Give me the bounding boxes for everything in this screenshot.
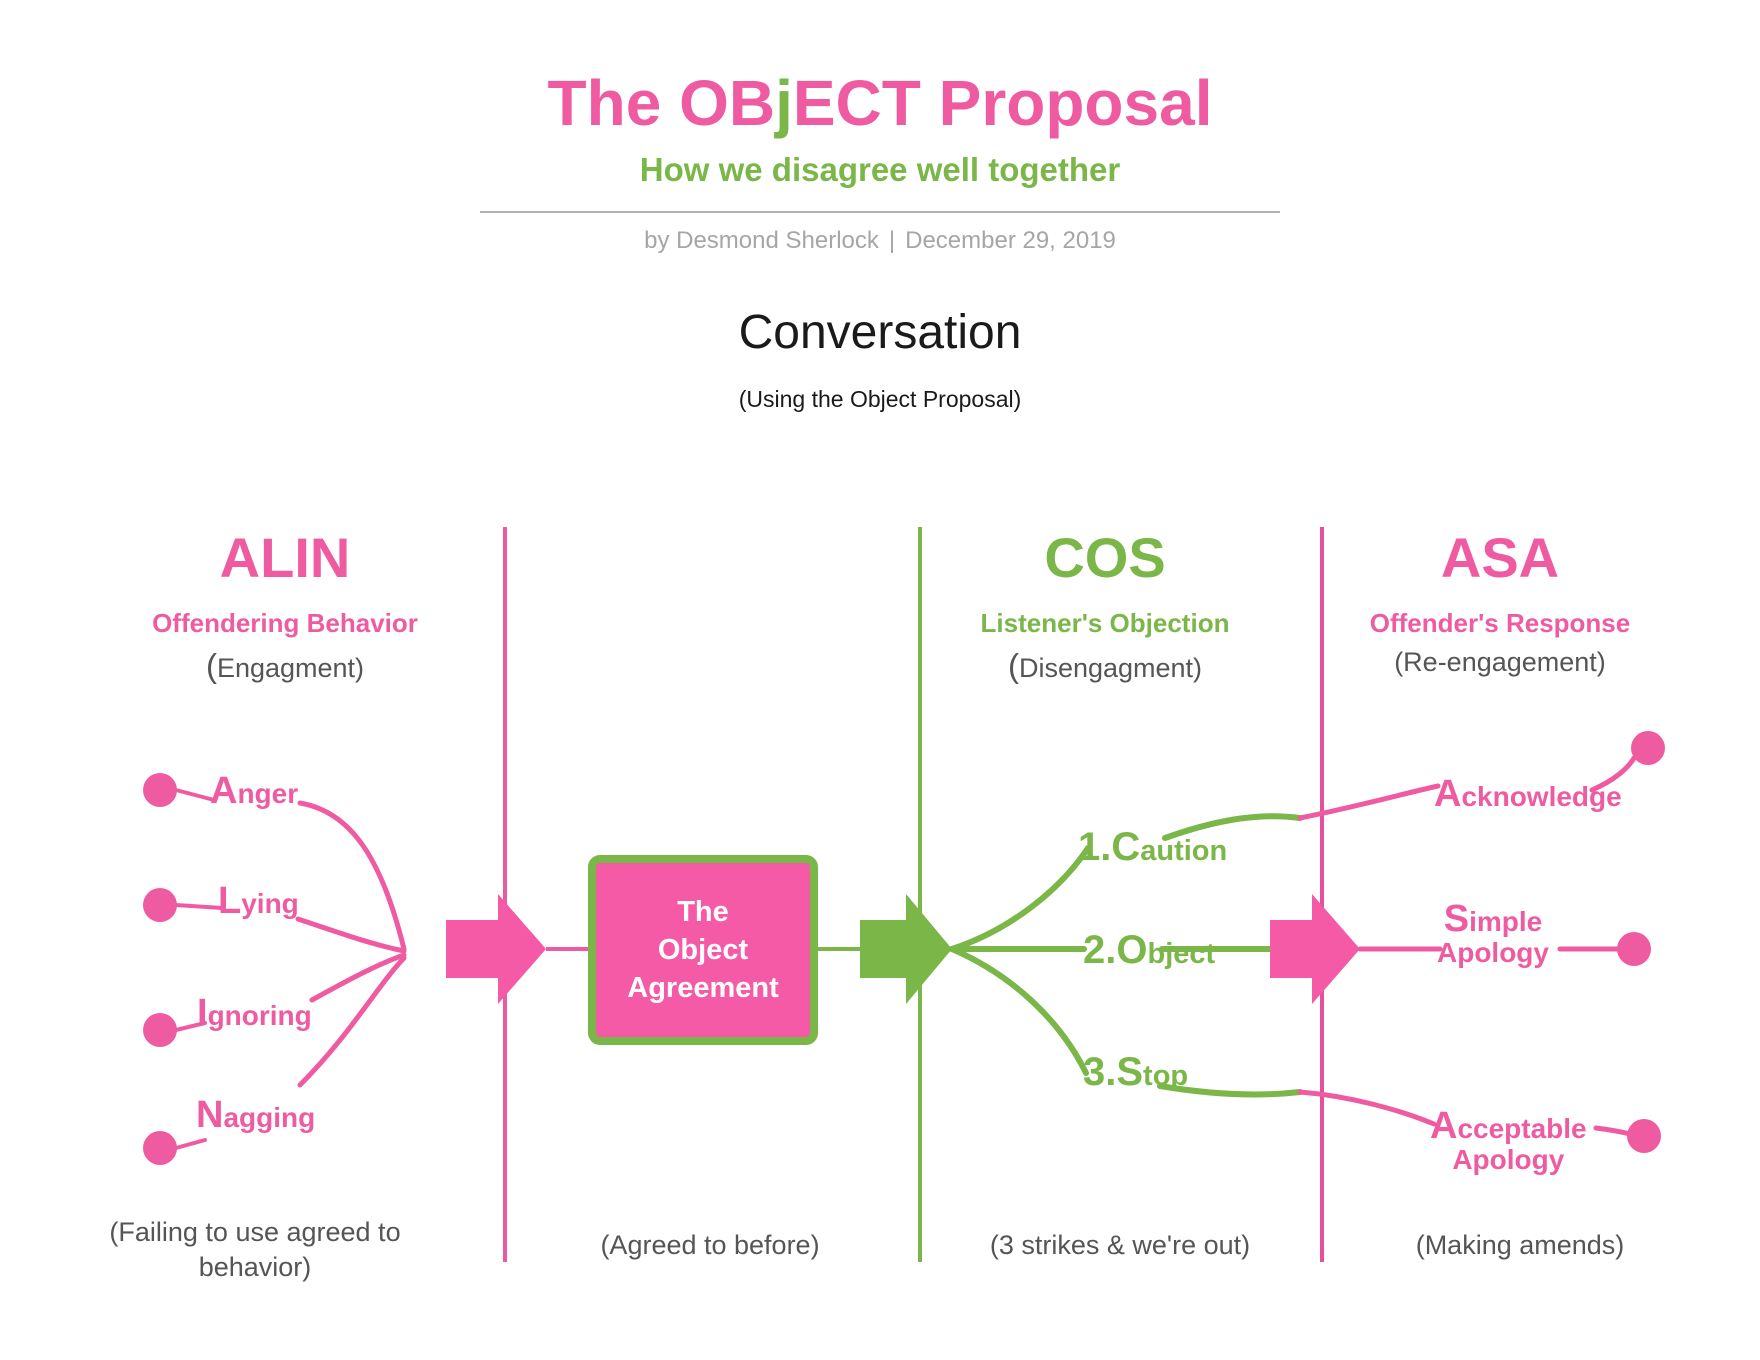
alin-item-lying-rest: ying [241, 888, 299, 919]
column-name-cos: Listener's Objection [945, 608, 1265, 639]
alin-item-nagging-rest: agging [223, 1102, 315, 1133]
alin-item-ignoring: Ignoring [197, 992, 312, 1035]
page-subtitle: How we disagree well together [0, 151, 1760, 189]
column-code-asa: ASA [1290, 530, 1710, 586]
object-agreement-box-text: The Object Agreement [627, 893, 779, 1008]
paren-open-cos: ( [1008, 647, 1019, 684]
paren-text-cos: Disengagment) [1019, 653, 1202, 683]
header: The OBjECT Proposal How we disagree well… [0, 0, 1760, 255]
column-header-cos: COS Listener's Objection (Disengagment) [945, 530, 1265, 685]
byline-date: December 29, 2019 [905, 227, 1116, 254]
cos-item-stop-rest: top [1143, 1060, 1188, 1092]
dot-anger [143, 773, 177, 807]
alin-bullet-dots [143, 773, 177, 1165]
curve-nagging [300, 958, 404, 1085]
paren-open-alin: ( [206, 647, 217, 684]
curve-caution [952, 848, 1088, 949]
header-divider-rule [480, 211, 1280, 213]
asa-item-simple-apology: SimpleApology [1437, 898, 1549, 969]
caption-alin: (Failing to use agreed to behavior) [70, 1215, 440, 1284]
paren-text-asa: (Re-engagement) [1394, 647, 1606, 677]
asa-item-acknowledge-cap: A [1434, 773, 1461, 815]
cos-item-object-num: 2. [1083, 928, 1116, 972]
asa-bullet-dots [1617, 731, 1665, 1153]
stem-nagging [176, 1140, 205, 1148]
dot-ignoring [143, 1013, 177, 1047]
alin-item-anger-rest: nger [237, 778, 298, 809]
dot-nagging [143, 1131, 177, 1165]
column-paren-asa: (Re-engagement) [1290, 647, 1710, 678]
cos-item-object-cap: O [1116, 928, 1147, 972]
cos-item-caution-rest: aution [1140, 835, 1227, 867]
alin-item-anger: Anger [210, 770, 298, 813]
dot-acknowledge [1631, 731, 1665, 765]
cos-item-caution-num: 1. [1078, 825, 1111, 869]
column-name-alin: Offendering Behavior [90, 608, 480, 639]
caption-asa: (Making amends) [1340, 1228, 1700, 1263]
title-letter-j: j [775, 67, 793, 139]
caption-cos: (3 strikes & we're out) [930, 1228, 1310, 1263]
cos-item-stop-num: 3. [1083, 1050, 1116, 1094]
alin-item-lying: Lying [218, 880, 299, 923]
asa-item-acceptable-rest: cceptable [1457, 1113, 1586, 1144]
column-code-alin: ALIN [90, 530, 480, 586]
arrow-alin-to-center [446, 894, 546, 1004]
alin-item-nagging: Nagging [196, 1094, 315, 1137]
box-line-2: Object [658, 934, 748, 966]
curve-anger [300, 803, 404, 949]
page-title: The OBjECT Proposal [0, 70, 1760, 137]
column-header-alin: ALIN Offendering Behavior (Engagment) [90, 530, 480, 685]
curve-lying [298, 919, 404, 951]
column-divider-center-cos [918, 527, 922, 1262]
conversation-heading: Conversation [0, 305, 1760, 360]
asa-item-acknowledge-rest: cknowledge [1461, 781, 1621, 812]
alin-item-nagging-cap: N [196, 1094, 223, 1136]
byline: by Desmond Sherlock|December 29, 2019 [0, 227, 1760, 255]
arrow-center-to-cos [860, 894, 952, 1004]
stem-anger [176, 790, 214, 800]
byline-author: by Desmond Sherlock [644, 227, 879, 254]
dot-acceptable-apology [1627, 1119, 1661, 1153]
column-code-cos: COS [945, 530, 1265, 586]
asa-item-simple-line2: Apology [1437, 937, 1549, 969]
asa-item-acceptable-cap: A [1430, 1105, 1457, 1147]
conversation-subheading: (Using the Object Proposal) [0, 386, 1760, 413]
column-header-asa: ASA Offender's Response (Re-engagement) [1290, 530, 1710, 678]
stem-lying [176, 905, 222, 908]
column-name-asa: Offender's Response [1290, 608, 1710, 639]
cos-item-stop-cap: S [1116, 1050, 1143, 1094]
infographic-canvas: The OBjECT Proposal How we disagree well… [0, 0, 1760, 1360]
alin-item-ignoring-rest: gnoring [208, 1000, 312, 1031]
arrow-cos-to-asa [1270, 894, 1360, 1004]
cos-item-caution-cap: C [1111, 825, 1140, 869]
column-paren-alin: (Engagment) [90, 647, 480, 685]
cos-item-object-rest: bject [1147, 938, 1215, 970]
alin-item-lying-cap: L [218, 880, 241, 922]
column-divider-alin-center [503, 527, 507, 1262]
box-line-1: The [677, 896, 729, 928]
dot-lying [143, 888, 177, 922]
caption-center: (Agreed to before) [530, 1228, 890, 1263]
box-line-3: Agreement [627, 972, 779, 1004]
alin-converging-curves [298, 803, 404, 1085]
cos-item-stop: 3.Stop [1083, 1050, 1188, 1095]
alin-item-anger-cap: A [210, 770, 237, 812]
cos-fanout-curves [952, 848, 1088, 1073]
curve-acceptable-tail [1596, 1128, 1630, 1134]
cos-item-object: 2.Object [1083, 928, 1215, 973]
asa-item-simple-rest: imple [1469, 906, 1542, 937]
cos-item-caution: 1.Caution [1078, 825, 1227, 870]
title-part-post: ECT Proposal [793, 67, 1213, 139]
curve-ignoring [312, 955, 404, 1000]
conversation-section-header: Conversation (Using the Object Proposal) [0, 305, 1760, 413]
dot-simple-apology [1617, 932, 1651, 966]
title-part-pre: The OB [548, 67, 776, 139]
byline-separator: | [879, 227, 905, 254]
paren-text-alin: Engagment) [217, 653, 364, 683]
object-agreement-box[interactable]: The Object Agreement [588, 855, 818, 1045]
asa-item-acceptable-apology: AcceptableApology [1430, 1105, 1587, 1176]
asa-item-acceptable-line2: Apology [1430, 1144, 1587, 1176]
column-paren-cos: (Disengagment) [945, 647, 1265, 685]
alin-item-ignoring-cap: I [197, 992, 208, 1034]
asa-item-acknowledge: Acknowledge [1434, 773, 1622, 816]
curve-stop [952, 949, 1086, 1073]
asa-item-simple-cap: S [1444, 898, 1469, 940]
